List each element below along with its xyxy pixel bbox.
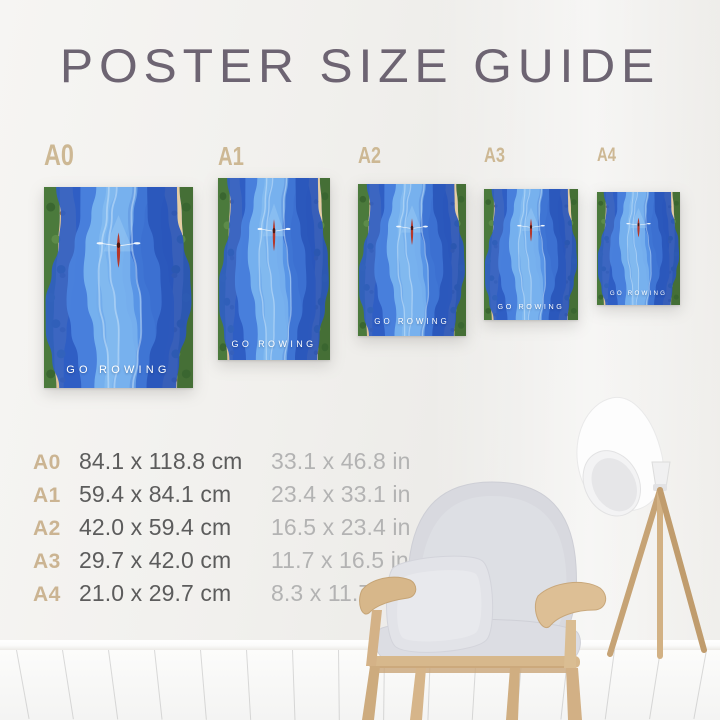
poster-size-guide-scene: POSTER SIZE GUIDE A0 GO ROWING A1 GO ROW… xyxy=(0,0,720,720)
table-cell-cm: 21.0 x 29.7 cm xyxy=(79,580,271,607)
poster-a2[interactable]: GO ROWING xyxy=(358,184,466,336)
floor-plank xyxy=(16,650,30,719)
poster-label-a0: A0 xyxy=(44,141,74,171)
poster-a0[interactable]: GO ROWING xyxy=(44,187,193,388)
table-cell-cm: 29.7 x 42.0 cm xyxy=(79,547,271,574)
poster-art-a1 xyxy=(218,178,330,360)
poster-label-a3: A3 xyxy=(484,145,505,166)
floor-plank xyxy=(292,650,295,720)
poster-art-a4 xyxy=(597,192,680,305)
poster-caption-a3: GO ROWING xyxy=(484,302,578,311)
poster-caption-a2: GO ROWING xyxy=(358,317,466,326)
poster-art-a0 xyxy=(44,187,193,388)
poster-art-a2 xyxy=(358,184,466,336)
poster-a1[interactable]: GO ROWING xyxy=(218,178,330,360)
floor-plank xyxy=(200,650,207,720)
table-cell-code: A0 xyxy=(33,451,79,475)
poster-art-a3 xyxy=(484,189,578,320)
table-cell-code: A2 xyxy=(33,517,79,541)
poster-caption-a1: GO ROWING xyxy=(218,339,330,349)
table-cell-cm: 59.4 x 84.1 cm xyxy=(79,481,271,508)
table-cell-cm: 42.0 x 59.4 cm xyxy=(79,514,271,541)
table-cell-code: A3 xyxy=(33,550,79,574)
page-title: POSTER SIZE GUIDE xyxy=(0,42,720,89)
poster-caption-a4: GO ROWING xyxy=(597,290,680,297)
table-cell-cm: 84.1 x 118.8 cm xyxy=(79,448,271,475)
poster-label-a4: A4 xyxy=(597,146,616,165)
table-cell-code: A1 xyxy=(33,484,79,508)
poster-a3[interactable]: GO ROWING xyxy=(484,189,578,320)
poster-label-a2: A2 xyxy=(358,144,381,167)
poster-a4[interactable]: GO ROWING xyxy=(597,192,680,305)
floor-plank xyxy=(246,650,251,720)
poster-label-a1: A1 xyxy=(218,143,244,169)
table-cell-code: A4 xyxy=(33,583,79,607)
floor-plank xyxy=(154,650,163,720)
poster-caption-a0: GO ROWING xyxy=(44,364,193,376)
floor-plank xyxy=(338,650,340,720)
floor-plank xyxy=(62,650,74,719)
armchair xyxy=(360,470,630,720)
floor-plank xyxy=(108,650,118,719)
